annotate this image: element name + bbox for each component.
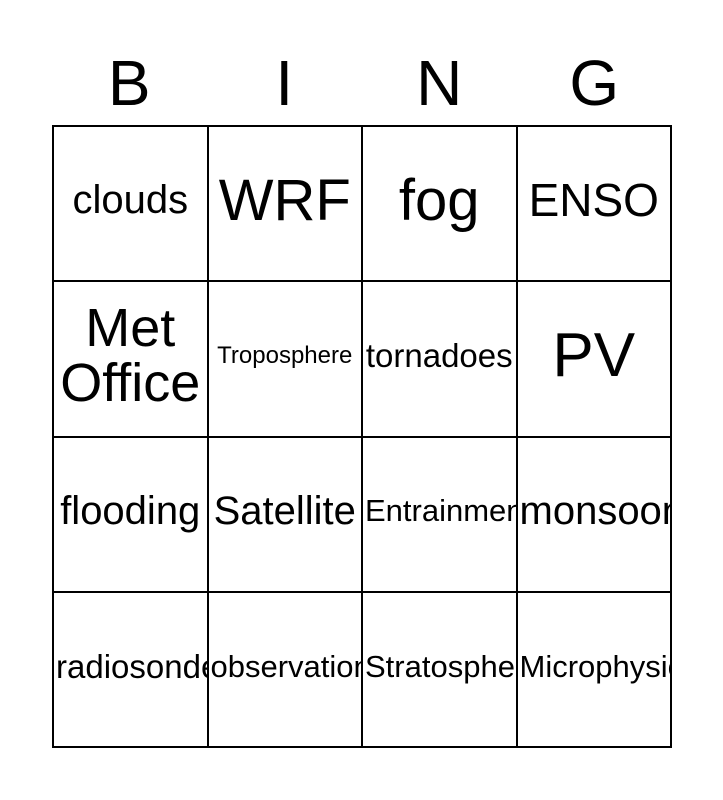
bingo-cell[interactable]: Troposphere [209, 282, 364, 437]
bingo-header-row: B I N G [52, 40, 672, 125]
bingo-cell-label: PV [518, 324, 671, 387]
bingo-cell[interactable]: tornadoes [363, 282, 518, 437]
bingo-cell[interactable]: Satellite [209, 438, 364, 593]
bingo-cell[interactable]: Met Office [54, 282, 209, 437]
bingo-header-cell-b: B [52, 40, 207, 125]
bingo-cell[interactable]: PV [518, 282, 673, 437]
bingo-card: B I N G cloudsWRFfogENSOMet OfficeTropos… [0, 0, 723, 800]
bingo-cell-label: flooding [54, 491, 207, 532]
bingo-cell[interactable]: Entrainment [363, 438, 518, 593]
bingo-cell-label: Met Office [54, 301, 207, 411]
bingo-cell-label: monsoon [518, 491, 671, 532]
bingo-header-cell-g: G [517, 40, 672, 125]
bingo-cell[interactable]: radiosonde [54, 593, 209, 748]
bingo-cell-label: Stratosphere [363, 651, 516, 683]
bingo-header-letter-g: G [569, 51, 619, 115]
bingo-cell-label: tornadoes [363, 339, 516, 373]
bingo-cell[interactable]: monsoon [518, 438, 673, 593]
bingo-header-letter-b: B [108, 51, 151, 115]
bingo-grid: cloudsWRFfogENSOMet OfficeTropospheretor… [52, 125, 672, 748]
bingo-cell-label: Troposphere [209, 344, 362, 368]
bingo-cell-label: Satellite [209, 491, 362, 532]
bingo-header-cell-n: N [362, 40, 517, 125]
bingo-cell[interactable]: Microphysics [518, 593, 673, 748]
bingo-header-cell-i: I [207, 40, 362, 125]
bingo-cell[interactable]: fog [363, 127, 518, 282]
bingo-cell-label: ENSO [518, 177, 671, 224]
bingo-header-letter-n: N [416, 51, 463, 115]
bingo-cell-label: Entrainment [363, 495, 516, 527]
bingo-cell[interactable]: flooding [54, 438, 209, 593]
bingo-cell[interactable]: observations [209, 593, 364, 748]
bingo-cell-label: fog [363, 171, 516, 230]
bingo-cell-label: Microphysics [518, 651, 671, 683]
bingo-cell[interactable]: ENSO [518, 127, 673, 282]
bingo-cell-label: observations [209, 651, 362, 683]
bingo-cell-label: clouds [54, 180, 207, 221]
bingo-cell[interactable]: Stratosphere [363, 593, 518, 748]
bingo-cell-label: WRF [209, 171, 362, 230]
bingo-cell[interactable]: WRF [209, 127, 364, 282]
bingo-cell[interactable]: clouds [54, 127, 209, 282]
bingo-cell-label: radiosonde [54, 650, 207, 684]
bingo-header-letter-i: I [275, 51, 293, 115]
